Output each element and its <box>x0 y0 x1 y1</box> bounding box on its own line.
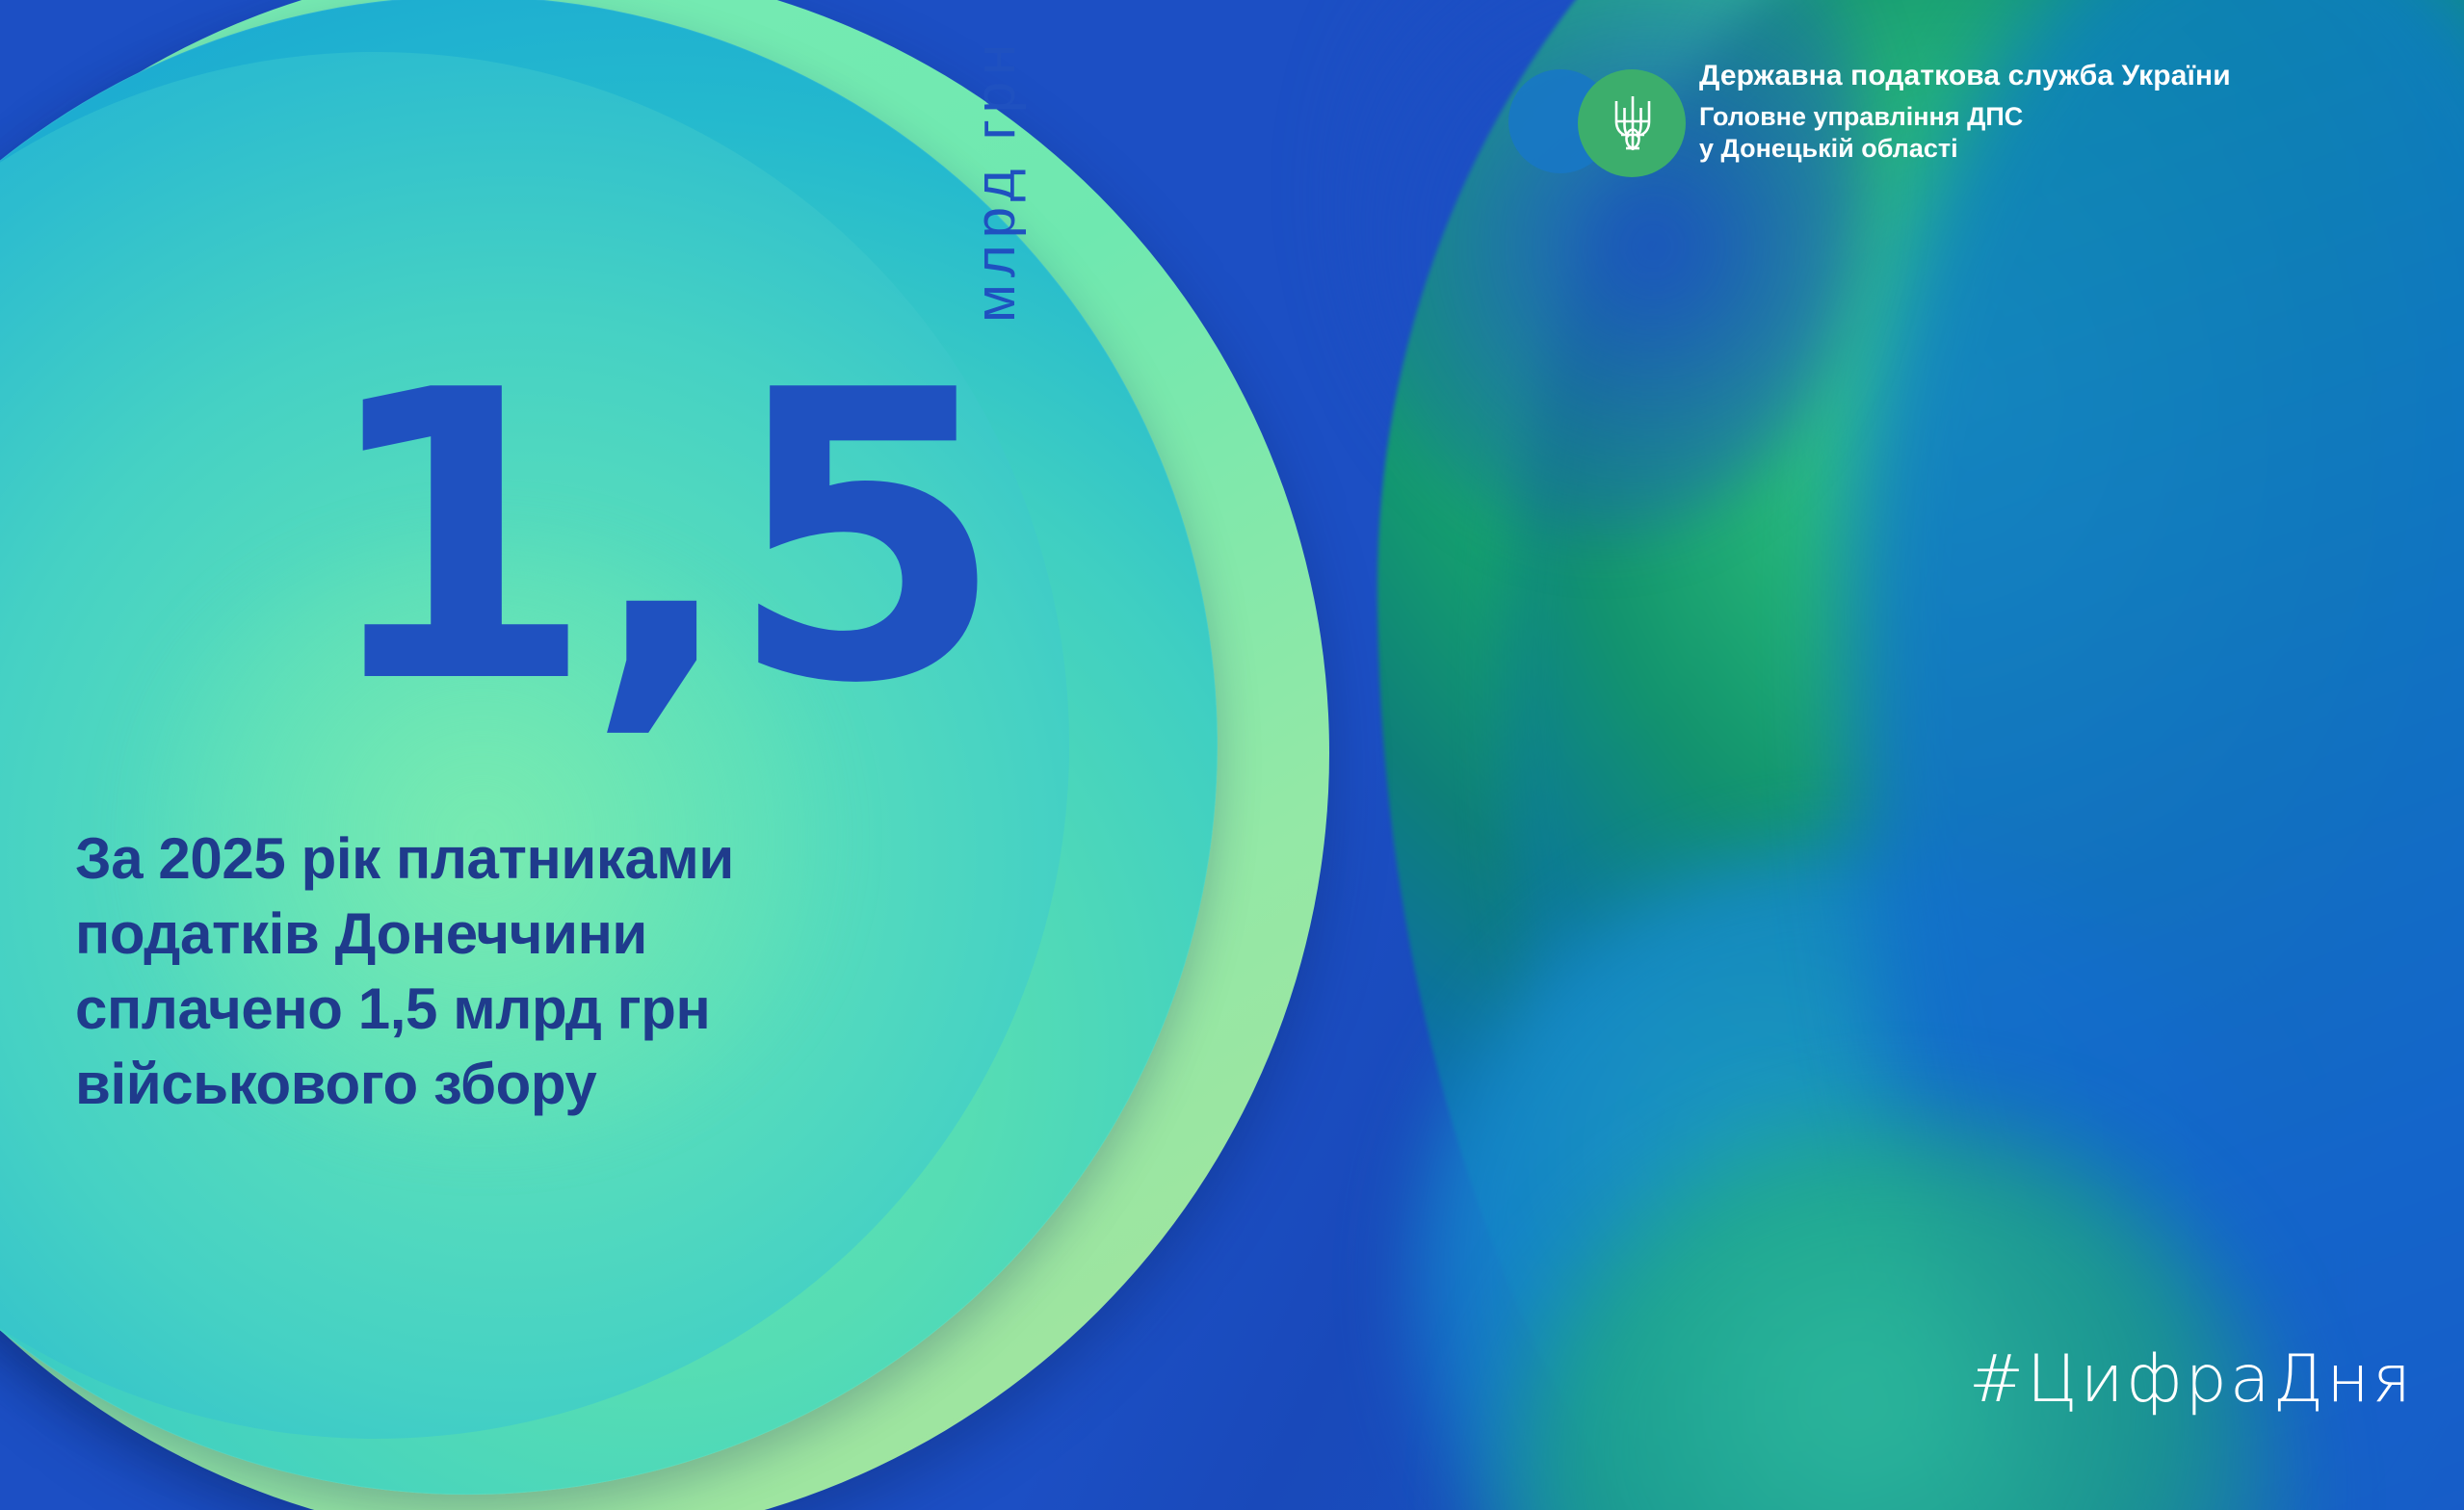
campaign-hashtag: #ЦифраДня <box>1969 1341 2414 1418</box>
infographic-canvas: Державна податкова служба України Головн… <box>0 0 2464 1510</box>
ukrainian-trident-icon <box>1609 92 1657 154</box>
key-figure-unit: млрд грн <box>963 0 1028 323</box>
headline-text: За 2025 рік платниками податків Донеччин… <box>75 821 1183 1122</box>
headline-line-3: сплачено 1,5 млрд грн <box>75 972 1183 1047</box>
department-name-line-2: у Донецькій області <box>1699 133 2231 164</box>
logo-text-block: Державна податкова служба України Головн… <box>1699 58 2231 164</box>
organization-name: Державна податкова служба України <box>1699 60 2231 92</box>
logo-mark-group <box>1508 58 1726 183</box>
headline-line-2: податків Донеччини <box>75 897 1183 972</box>
headline-line-1: За 2025 рік платниками <box>75 821 1183 897</box>
key-figure-value: 1,5 <box>318 339 995 738</box>
brand-logo: Державна податкова служба України Головн… <box>1508 58 2231 183</box>
department-name-line-1: Головне управління ДПС <box>1699 101 2231 132</box>
headline-line-4: військового збору <box>75 1047 1183 1122</box>
